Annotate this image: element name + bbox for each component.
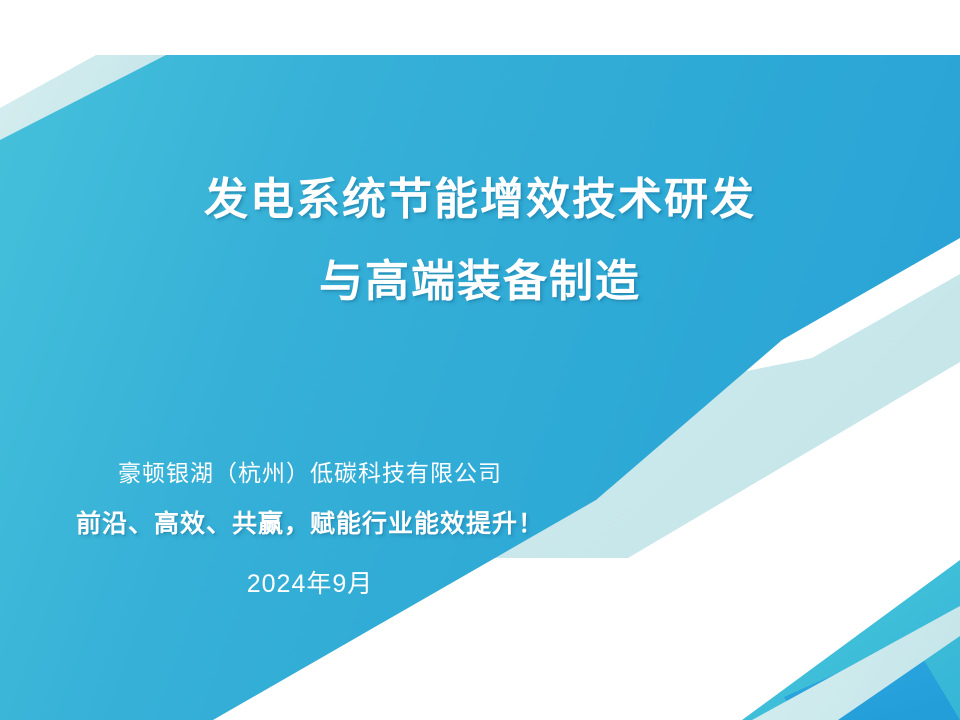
- presentation-slide: 发电系统节能增效技术研发 与高端装备制造 豪顿银湖（杭州）低碳科技有限公司 前沿…: [0, 0, 960, 720]
- slide-title-line-1: 发电系统节能增效技术研发: [0, 162, 960, 238]
- company-name: 豪顿银湖（杭州）低碳科技有限公司: [0, 456, 620, 490]
- slide-content-layer: 发电系统节能增效技术研发 与高端装备制造 豪顿银湖（杭州）低碳科技有限公司 前沿…: [0, 0, 960, 720]
- company-tagline: 前沿、高效、共赢，赋能行业能效提升！: [0, 504, 620, 544]
- slide-footer-block: 豪顿银湖（杭州）低碳科技有限公司 前沿、高效、共赢，赋能行业能效提升！ 2024…: [0, 456, 620, 602]
- slide-title-line-2: 与高端装备制造: [0, 244, 960, 320]
- slide-title-block: 发电系统节能增效技术研发 与高端装备制造: [0, 162, 960, 320]
- slide-date: 2024年9月: [0, 566, 620, 602]
